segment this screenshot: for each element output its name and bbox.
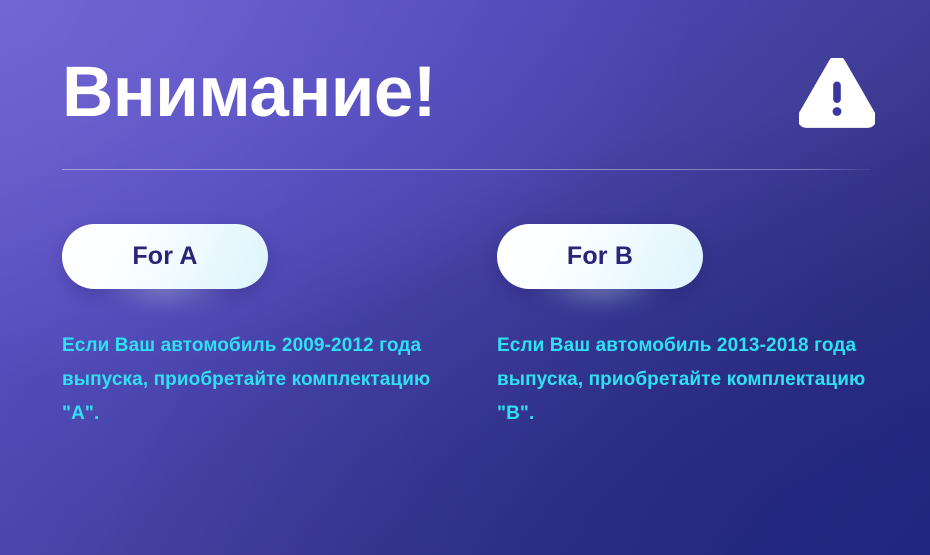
warning-triangle-icon (799, 58, 875, 128)
for-b-button-wrap: For B (497, 224, 703, 289)
options-container: For A Если Ваш автомобиль 2009-2012 года… (62, 224, 868, 474)
attention-banner: Внимание! For A Если Ваш автомобиль 2009… (0, 0, 930, 555)
banner-header: Внимание! (62, 50, 875, 140)
option-card-for-b: For B Если Ваш автомобиль 2013-2018 года… (497, 224, 877, 431)
for-b-description: Если Ваш автомобиль 2013-2018 года выпус… (497, 329, 877, 431)
option-card-for-a: For A Если Ваш автомобиль 2009-2012 года… (62, 224, 442, 431)
for-a-button[interactable]: For A (62, 224, 268, 289)
for-a-description: Если Ваш автомобиль 2009-2012 года выпус… (62, 329, 442, 431)
for-a-button-wrap: For A (62, 224, 268, 289)
for-b-button-label: For B (567, 244, 633, 269)
page-title: Внимание! (62, 50, 436, 136)
for-a-button-label: For A (132, 244, 197, 269)
for-b-button[interactable]: For B (497, 224, 703, 289)
header-divider (62, 169, 870, 170)
